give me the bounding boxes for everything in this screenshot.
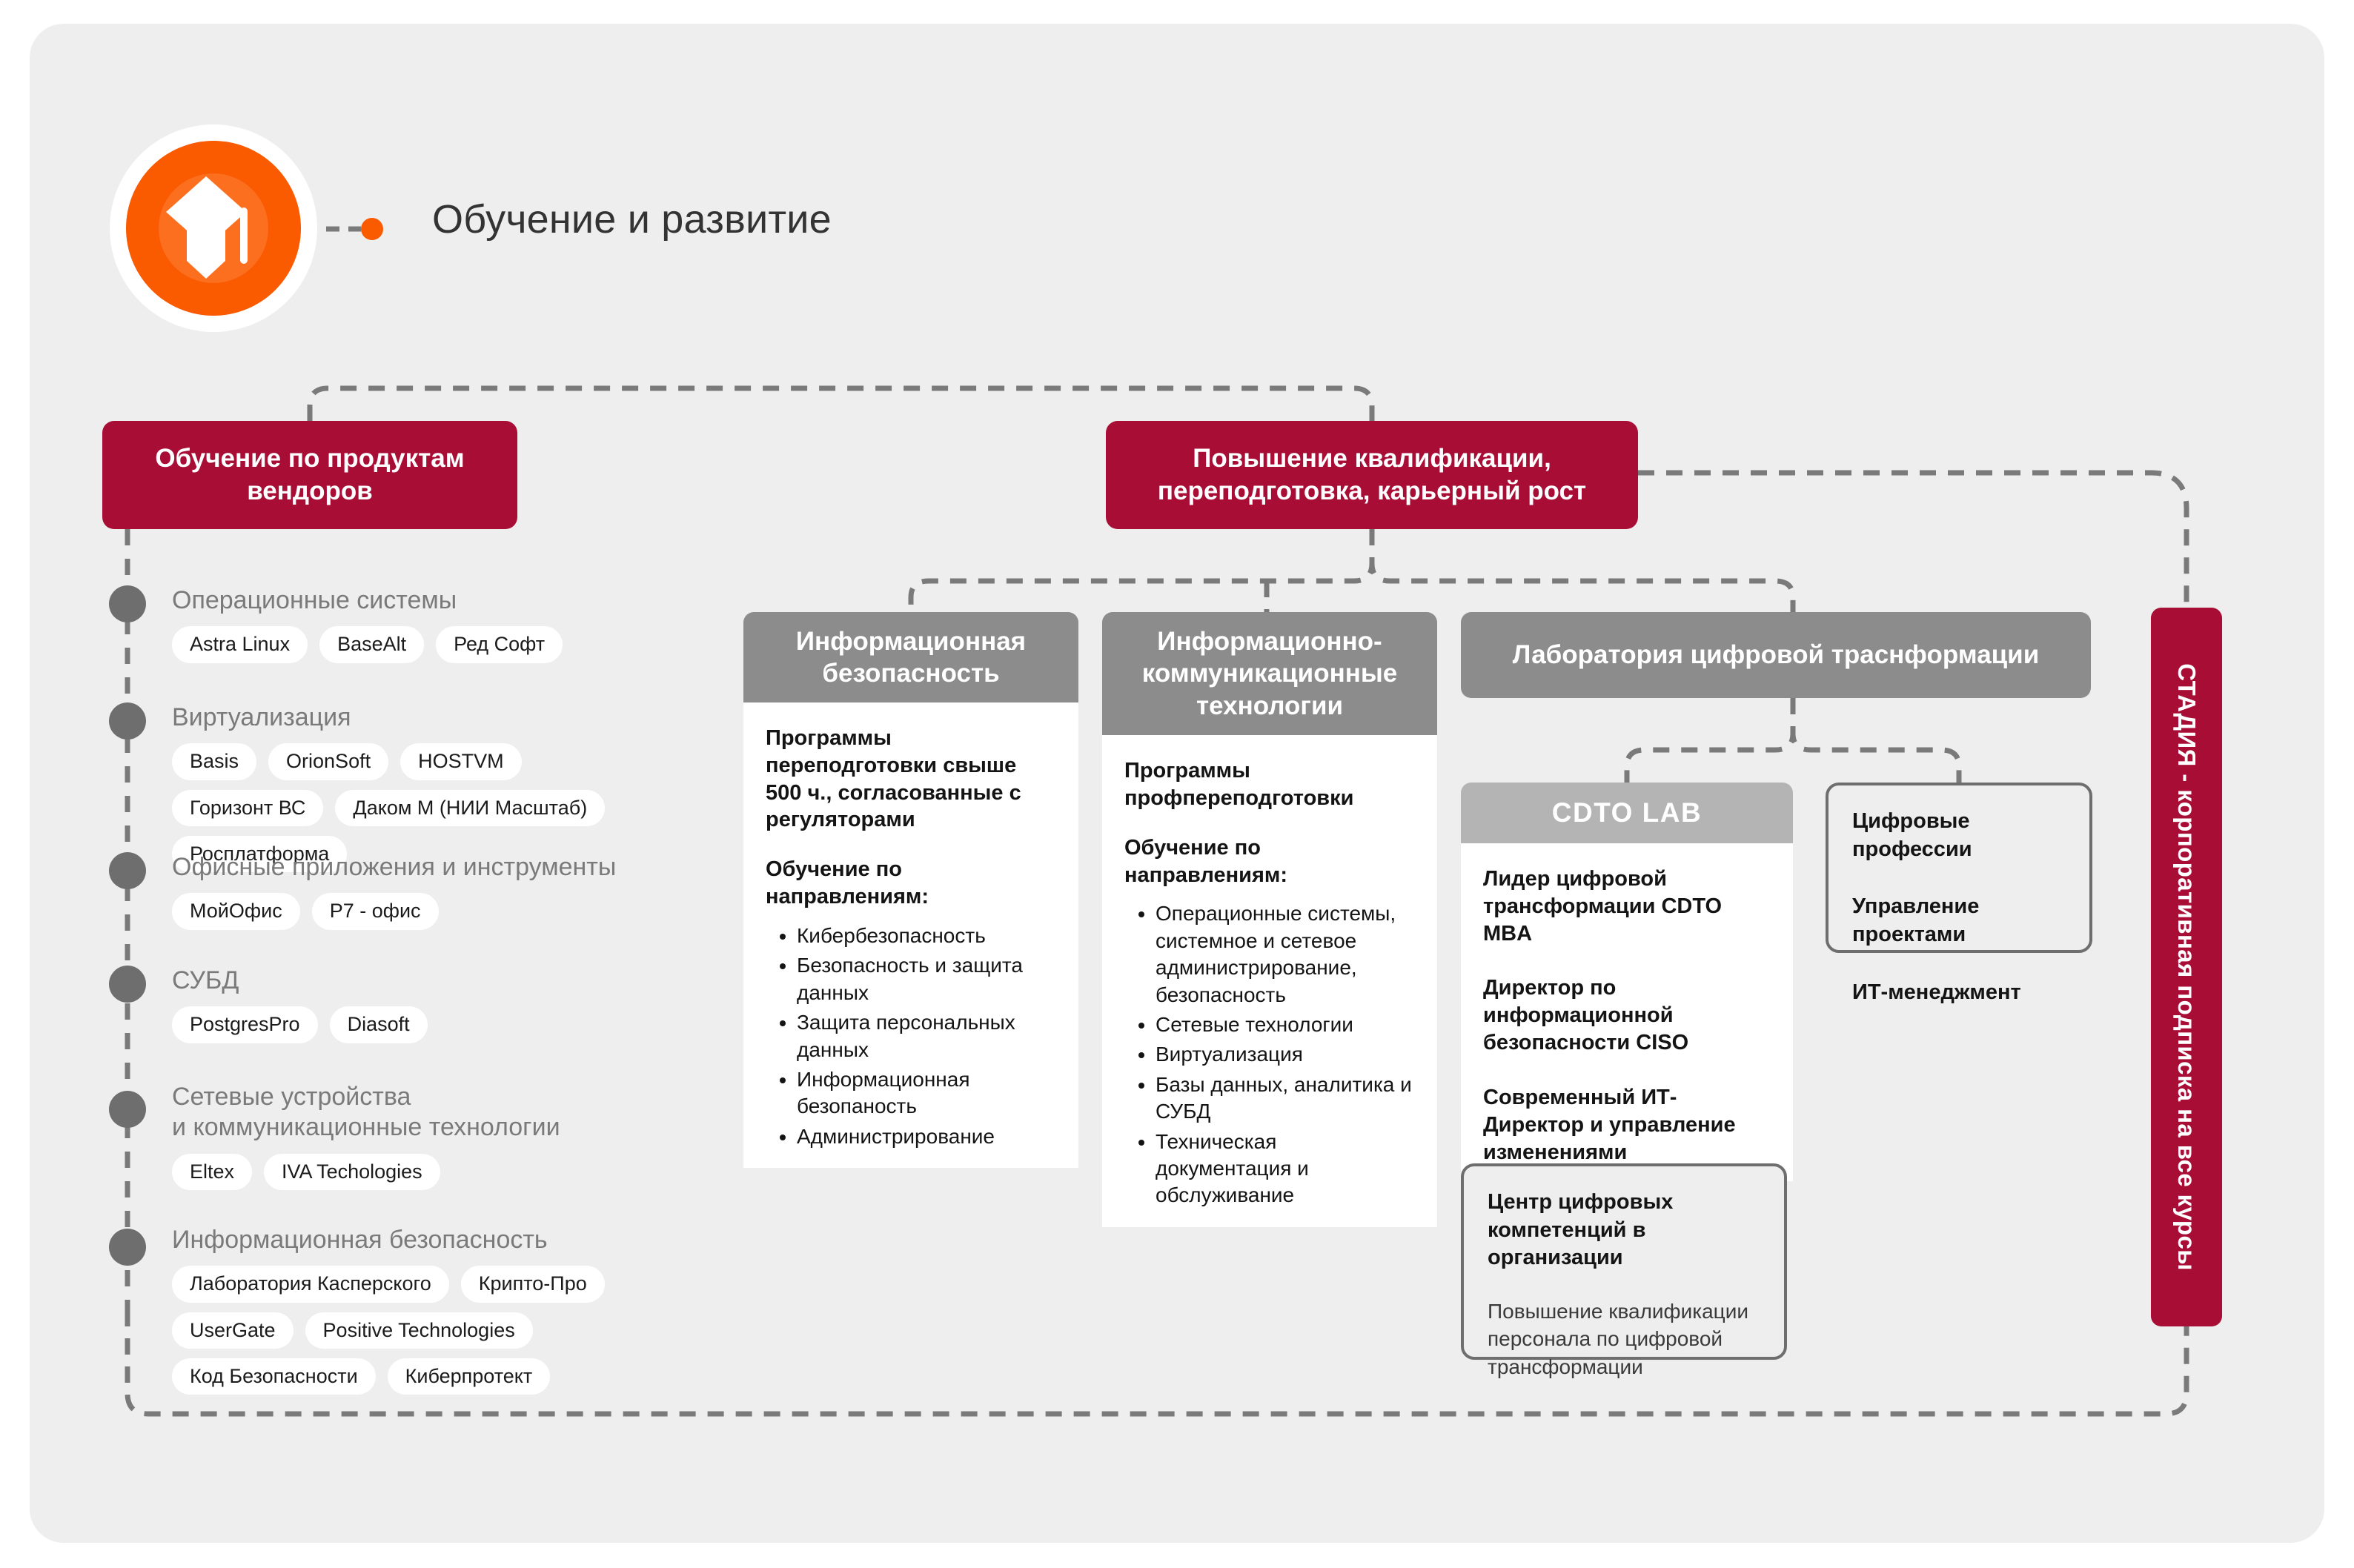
vendor-chip[interactable]: OrionSoft xyxy=(268,743,388,780)
spacer xyxy=(1124,812,1415,834)
box-competence-center: Центр цифровых компетенций в организации… xyxy=(1461,1163,1787,1360)
competence-center-text: Повышение квалификации персонала по цифр… xyxy=(1488,1298,1760,1381)
vendor-chip[interactable]: Ред Софт xyxy=(436,626,563,662)
vendor-group-office: Офисные приложения и инструменты МойОфис… xyxy=(172,852,616,930)
card-header: CDTO LAB xyxy=(1461,783,1793,843)
vendor-chip[interactable]: МойОфис xyxy=(172,893,300,929)
vendor-group-title: Сетевые устройства и коммуникационные те… xyxy=(172,1082,560,1143)
card-list-item: Кибербезопасность xyxy=(797,923,1056,949)
vendor-chip-list: Astra Linux BaseAlt Ред Софт xyxy=(172,626,563,662)
vendor-group-virtualization: Виртуализация Basis OrionSoft HOSTVM Гор… xyxy=(172,702,646,872)
vendor-chip[interactable]: Даком М (НИИ Масштаб) xyxy=(335,790,605,826)
vendor-chip[interactable]: Лаборатория Касперского xyxy=(172,1266,449,1302)
timeline-node xyxy=(109,852,146,889)
vendor-group-title: Офисные приложения и инструменты xyxy=(172,852,616,883)
timeline-node xyxy=(109,966,146,1003)
vendor-group-infosec: Информационная безопасность Лаборатория … xyxy=(172,1225,735,1395)
card-subheading: Обучение по направлениям: xyxy=(766,856,1056,911)
card-ict: Информационно-коммуникационные технологи… xyxy=(1102,612,1437,1131)
vendor-chip[interactable]: UserGate xyxy=(172,1312,294,1349)
spacer xyxy=(766,834,1056,856)
timeline-node xyxy=(109,585,146,622)
title-connector-dot xyxy=(361,218,383,240)
card-cdto-lab: CDTO LAB Лидер цифровой трансформации CD… xyxy=(1461,783,1793,1125)
card-list-item: Виртуализация xyxy=(1156,1041,1415,1068)
card-paragraph: Программы профпереподготовки xyxy=(1124,757,1415,812)
card-header: Информационно-коммуникационные технологи… xyxy=(1102,612,1437,735)
timeline-node xyxy=(109,1229,146,1266)
vendor-chip[interactable]: Код Безопасности xyxy=(172,1358,376,1395)
cdto-program: Современный ИТ-Директор и управление изм… xyxy=(1483,1084,1771,1166)
logo-disc xyxy=(126,141,301,316)
program-line: ИТ-менеджмент xyxy=(1852,979,2066,1007)
branch-header-vendor-training: Обучение по продуктам вендоров xyxy=(102,421,517,529)
vendor-group-title: Виртуализация xyxy=(172,702,646,733)
vendor-group-title: Операционные системы xyxy=(172,585,563,616)
card-list-item: Сетевые технологии xyxy=(1156,1011,1415,1038)
vendor-chip[interactable]: Positive Technologies xyxy=(305,1312,533,1349)
vendor-chip[interactable]: Горизонт ВС xyxy=(172,790,323,826)
vendor-group-title: СУБД xyxy=(172,966,428,996)
card-list: Кибербезопасность Безопасность и защита … xyxy=(766,923,1056,1150)
vendor-chip[interactable]: Крипто-Про xyxy=(461,1266,605,1302)
graduation-box-icon xyxy=(153,166,274,294)
cdto-program: Лидер цифровой трансформации CDTO MBA xyxy=(1483,866,1771,948)
vendor-chip[interactable]: BaseAlt xyxy=(319,626,424,662)
card-subheading: Обучение по направлениям: xyxy=(1124,834,1415,889)
vendor-chip[interactable]: Basis xyxy=(172,743,256,780)
spacer xyxy=(1483,948,1771,974)
vendor-chip[interactable]: PostgresPro xyxy=(172,1006,318,1043)
vendor-group-os: Операционные системы Astra Linux BaseAlt… xyxy=(172,585,563,663)
spacer xyxy=(1852,863,2066,893)
vendor-chip-list: МойОфис Р7 - офис xyxy=(172,893,616,929)
card-list-item: Защита персональных данных xyxy=(797,1009,1056,1063)
card-list-item: Операционные системы, системное и сетево… xyxy=(1156,900,1415,1009)
card-body: Программы профпереподготовки Обучение по… xyxy=(1102,735,1437,1227)
stage-subscription-bar: СТАДИЯ - корпоративная подписка на все к… xyxy=(2151,608,2222,1326)
vendor-group-network: Сетевые устройства и коммуникационные те… xyxy=(172,1082,560,1190)
card-header: Информационная безопасность xyxy=(743,612,1078,702)
vendor-chip[interactable]: Eltex xyxy=(172,1154,252,1190)
box-digital-programs: Цифровые профессии Управление проектами … xyxy=(1826,783,2092,953)
card-body: Лидер цифровой трансформации CDTO MBA Ди… xyxy=(1461,843,1793,1181)
card-list-item: Базы данных, аналитика и СУБД xyxy=(1156,1072,1415,1126)
vendor-chip[interactable]: Diasoft xyxy=(330,1006,428,1043)
vendor-chip[interactable]: HOSTVM xyxy=(400,743,522,780)
card-body: Программы переподготовки свыше 500 ч., с… xyxy=(743,702,1078,1168)
card-list-item: Администрирование xyxy=(797,1123,1056,1150)
vendor-chip[interactable]: IVA Techologies xyxy=(264,1154,440,1190)
timeline-node xyxy=(109,702,146,740)
spacer xyxy=(1483,1057,1771,1084)
program-line: Управление проектами xyxy=(1852,893,2066,949)
vendor-chip[interactable]: Р7 - офис xyxy=(312,893,439,929)
competence-center-title: Центр цифровых компетенций в организации xyxy=(1488,1189,1760,1272)
vendor-group-dbms: СУБД PostgresPro Diasoft xyxy=(172,966,428,1043)
program-line: Цифровые профессии xyxy=(1852,808,2066,863)
vendor-group-title: Информационная безопасность xyxy=(172,1225,735,1255)
diagram-canvas: Обучение и развитие Обучение по продукта… xyxy=(0,0,2354,1568)
card-paragraph: Программы переподготовки свыше 500 ч., с… xyxy=(766,725,1056,834)
cdto-program: Директор по информационной безопасности … xyxy=(1483,974,1771,1057)
spacer xyxy=(1488,1272,1760,1298)
vendor-chip-list: Лаборатория Касперского Крипто-Про UserG… xyxy=(172,1266,735,1394)
card-header-digital-lab: Лаборатория цифровой траснформации xyxy=(1461,612,2091,698)
card-list: Операционные системы, системное и сетево… xyxy=(1124,900,1415,1209)
card-list-item: Безопасность и защита данных xyxy=(797,952,1056,1006)
card-list-item: Техническая документация и обслуживание xyxy=(1156,1129,1415,1209)
card-list-item: Информационная безопаность xyxy=(797,1066,1056,1120)
vendor-chip[interactable]: Astra Linux xyxy=(172,626,308,662)
timeline-node xyxy=(109,1091,146,1128)
page-title: Обучение и развитие xyxy=(432,196,832,242)
vendor-chip-list: Eltex IVA Techologies xyxy=(172,1154,560,1190)
branch-header-qualification: Повышение квалификации, переподготовка, … xyxy=(1106,421,1638,529)
vendor-chip[interactable]: Киберпротект xyxy=(388,1358,551,1395)
stage-subscription-label: СТАДИЯ - корпоративная подписка на все к… xyxy=(2172,663,2201,1271)
spacer xyxy=(1852,949,2066,979)
vendor-chip-list: PostgresPro Diasoft xyxy=(172,1006,428,1043)
logo-ring xyxy=(110,124,317,332)
card-information-security: Информационная безопасность Программы пе… xyxy=(743,612,1078,1131)
